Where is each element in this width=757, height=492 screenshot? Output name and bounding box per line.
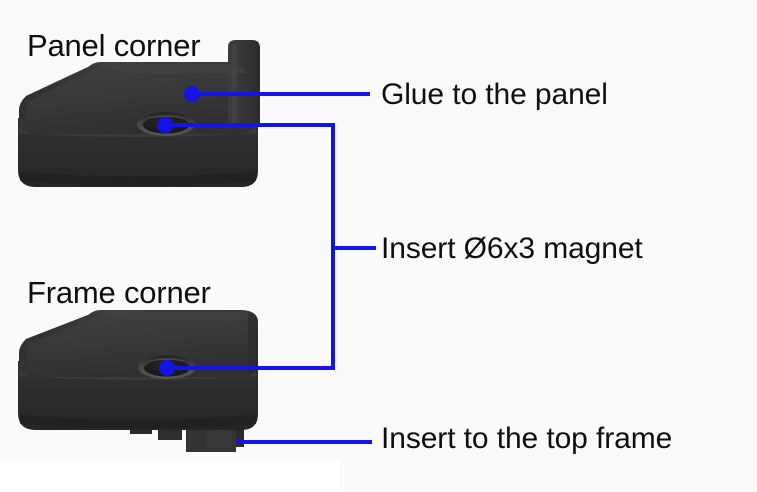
frame-corner-top-highlight xyxy=(101,312,255,320)
part-frame-corner xyxy=(18,310,258,452)
callout-label-insert-magnet: Insert Ø6x3 magnet xyxy=(381,232,643,266)
diagram-canvas: Panel corner Frame corner Glue to the pa… xyxy=(0,0,757,492)
callout-label-insert-top-frame: Insert to the top frame xyxy=(381,422,672,456)
frame-corner-right-shade xyxy=(248,312,258,376)
part-title-frame-corner: Frame corner xyxy=(27,275,211,311)
callout-label-glue-to-panel: Glue to the panel xyxy=(381,78,608,112)
frame-corner-magnet-hole xyxy=(138,355,196,379)
parts-illustration xyxy=(0,0,757,492)
panel-corner-magnet-hole xyxy=(137,112,195,136)
panel-corner-tab-highlight xyxy=(232,44,237,124)
panel-corner-top-highlight xyxy=(101,64,247,73)
part-title-panel-corner: Panel corner xyxy=(27,28,200,64)
